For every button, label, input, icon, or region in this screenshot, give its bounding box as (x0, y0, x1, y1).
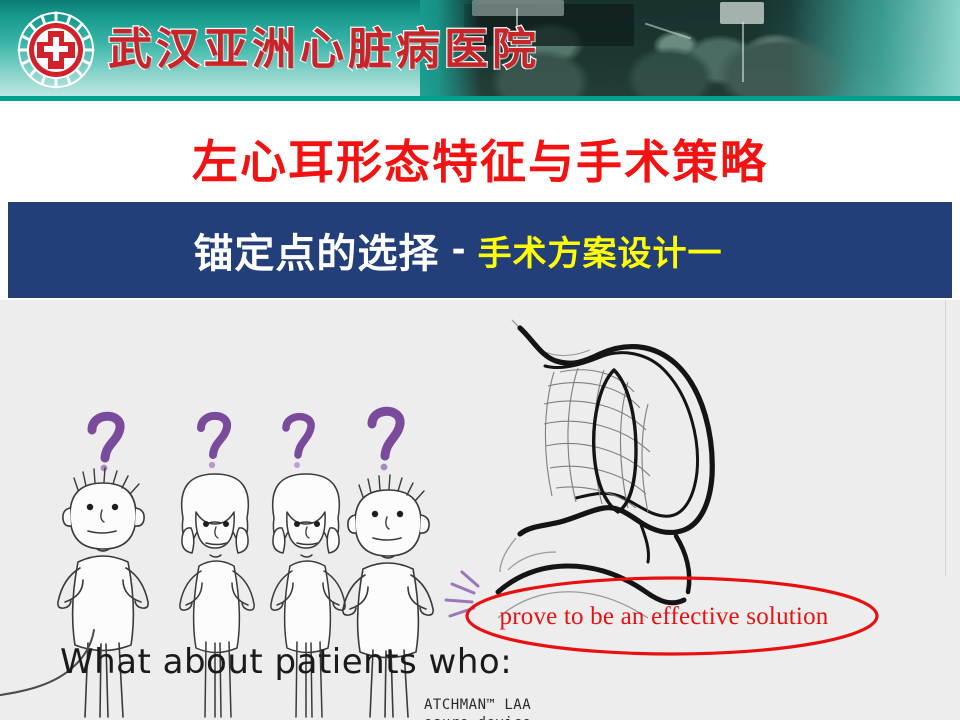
page-header: 武汉亚洲心脏病医院 (0, 0, 960, 96)
hospital-name: 武汉亚洲心脏病医院 (108, 13, 540, 77)
page-title: 左心耳形态特征与手术策略 (0, 126, 960, 192)
device-label-line-2: osure device (424, 714, 531, 720)
content-headline: What about patients who: (60, 642, 512, 682)
callout-text: prove to be an effective solution (0, 603, 960, 631)
question-mark-group (92, 411, 400, 471)
watchman-device-label: ATCHMAN™ LAA osure device (424, 696, 531, 720)
banner-accent-text: 手术方案设计一 (478, 226, 723, 275)
device-label-line-1: ATCHMAN™ LAA (424, 696, 531, 714)
slide-content-illustration: What about patients who: ATCHMAN™ LAA os… (0, 300, 960, 720)
hospital-logo-icon (17, 11, 95, 89)
laa-anatomy-drawing (498, 320, 712, 618)
callout-text-inner: prove to be an effective solution (500, 603, 829, 631)
header-divider-rule (0, 96, 960, 101)
section-banner: 锚定点的选择 - 手术方案设计一 (8, 202, 952, 298)
banner-main-text: 锚定点的选择 (193, 221, 439, 279)
banner-separator: - (451, 230, 465, 270)
